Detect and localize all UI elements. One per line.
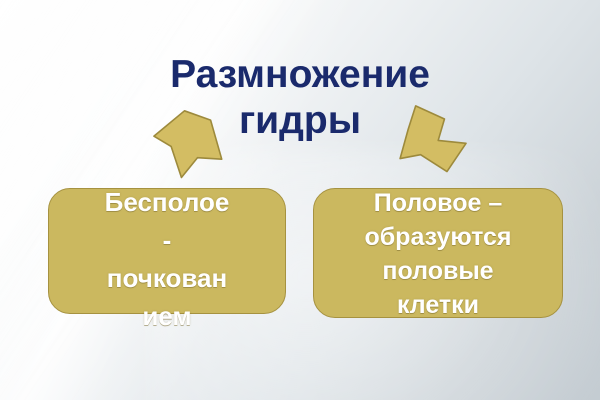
slide-canvas: Размножение гидры Бесполое - почкован ие… <box>0 0 600 400</box>
sexual-reproduction-label: Половое – образуются половые клетки <box>313 186 563 322</box>
asexual-reproduction-label: Бесполое - почкован ием <box>48 183 286 335</box>
page-title: Размножение гидры <box>0 52 600 144</box>
